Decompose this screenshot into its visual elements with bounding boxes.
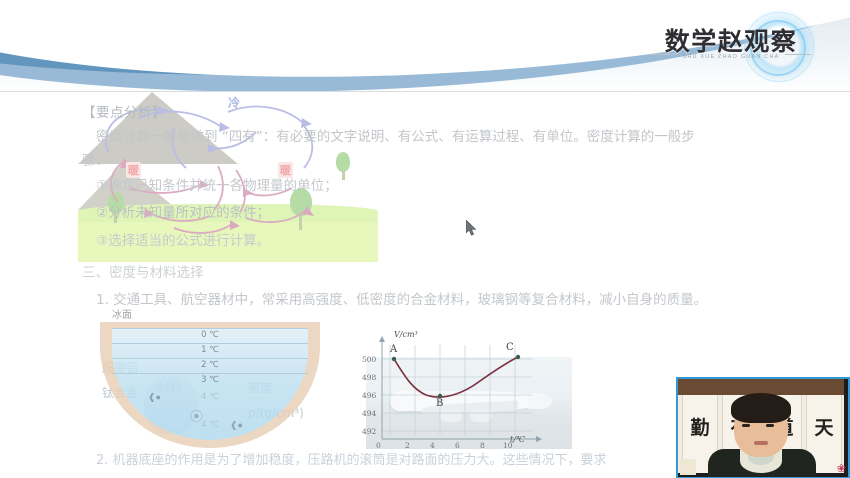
key-points-heading: 【要点分析】: [82, 101, 166, 121]
temp-label: 4 ℃: [112, 392, 308, 402]
instructor-eye: [766, 424, 774, 427]
plum-blossom-icon: ❀: [837, 462, 846, 475]
logo-title: 数学赵观察: [626, 22, 836, 58]
ice-surface-label: 冰面: [112, 306, 132, 321]
lecture-screen: 数学赵观察 SHU XUE ZHAO GUAN CHA: [0, 0, 850, 478]
instructor-eye: [742, 424, 750, 427]
x-tick-label: 8: [480, 441, 485, 450]
volume-temperature-chart: V/cm³ t/℃ 500 498 496 494 492 0 2 4 6 8 …: [360, 335, 572, 453]
ice-lake-diagram: 冰面 0 ℃ 1 ℃ 2 ℃ 3 ℃ 4 ℃ 4 ℃ ❰● ⦿ ❰●: [100, 310, 320, 452]
temp-label: 2 ℃: [112, 360, 308, 370]
instructor-webcam[interactable]: 勤 有 道 天 ❀: [676, 377, 850, 478]
temp-label: 1 ℃: [112, 345, 308, 355]
temp-label: 3 ℃: [112, 375, 308, 385]
y-tick-label: 500: [362, 355, 376, 364]
section-title: 三、密度与材料选择: [82, 261, 204, 281]
y-tick-label: 494: [362, 409, 376, 418]
list-item: ②分析未知量所对应的条件；: [96, 201, 270, 221]
x-tick-label: 6: [455, 441, 460, 450]
temp-label: 4 ℃: [112, 420, 308, 430]
fish-icon: ❰●: [148, 392, 161, 403]
strat-line: [112, 328, 308, 329]
x-tick-label: 2: [405, 441, 410, 450]
instructor-hair: [731, 393, 791, 423]
y-tick-label: 498: [362, 373, 376, 382]
paragraph-1-line-2: 骤：: [82, 149, 109, 169]
list-item: ③选择适当的公式进行计算。: [96, 229, 270, 249]
point-label-c: C: [506, 342, 514, 353]
strat-line: [112, 373, 308, 374]
point-label-b: B: [436, 398, 443, 409]
channel-logo: 数学赵观察 SHU XUE ZHAO GUAN CHA: [626, 8, 836, 82]
list-item: ①确定已知条件并统一各物理量的单位；: [96, 174, 338, 194]
temp-label: 0 ℃: [112, 330, 308, 340]
fish-icon: ❰●: [230, 420, 243, 431]
fish-icon: ⦿: [190, 406, 203, 425]
point-label-a: A: [390, 344, 397, 355]
scroll-char: 勤: [683, 413, 717, 440]
strat-line: [112, 358, 308, 359]
slide-banner: 数学赵观察 SHU XUE ZHAO GUAN CHA: [0, 0, 850, 92]
y-tick-label: 496: [362, 391, 376, 400]
small-scroll: [680, 459, 696, 475]
cold-label: 冷: [228, 94, 240, 111]
y-axis-label: V/cm³: [394, 330, 418, 339]
x-tick-label: 10: [503, 441, 513, 450]
logo-pinyin: SHU XUE ZHAO GUAN CHA: [626, 54, 836, 60]
scroll-char: 天: [807, 413, 841, 440]
instructor-mouth: [754, 441, 768, 445]
mouse-cursor-icon: [466, 220, 477, 236]
paragraph-1-line-1: 密度计算一般要做到 “四有”：有必要的文字说明、有公式、有运算过程、有单位。密度…: [96, 125, 695, 145]
paragraph-2: 1. 交通工具、航空器材中，常采用高强度、低密度的合金材料，玻璃钢等复合材料，减…: [96, 288, 707, 308]
x-tick-label: 4: [430, 441, 435, 450]
strat-line: [112, 343, 308, 344]
y-tick-label: 492: [362, 427, 376, 436]
x-tick-label: 0: [376, 441, 381, 450]
